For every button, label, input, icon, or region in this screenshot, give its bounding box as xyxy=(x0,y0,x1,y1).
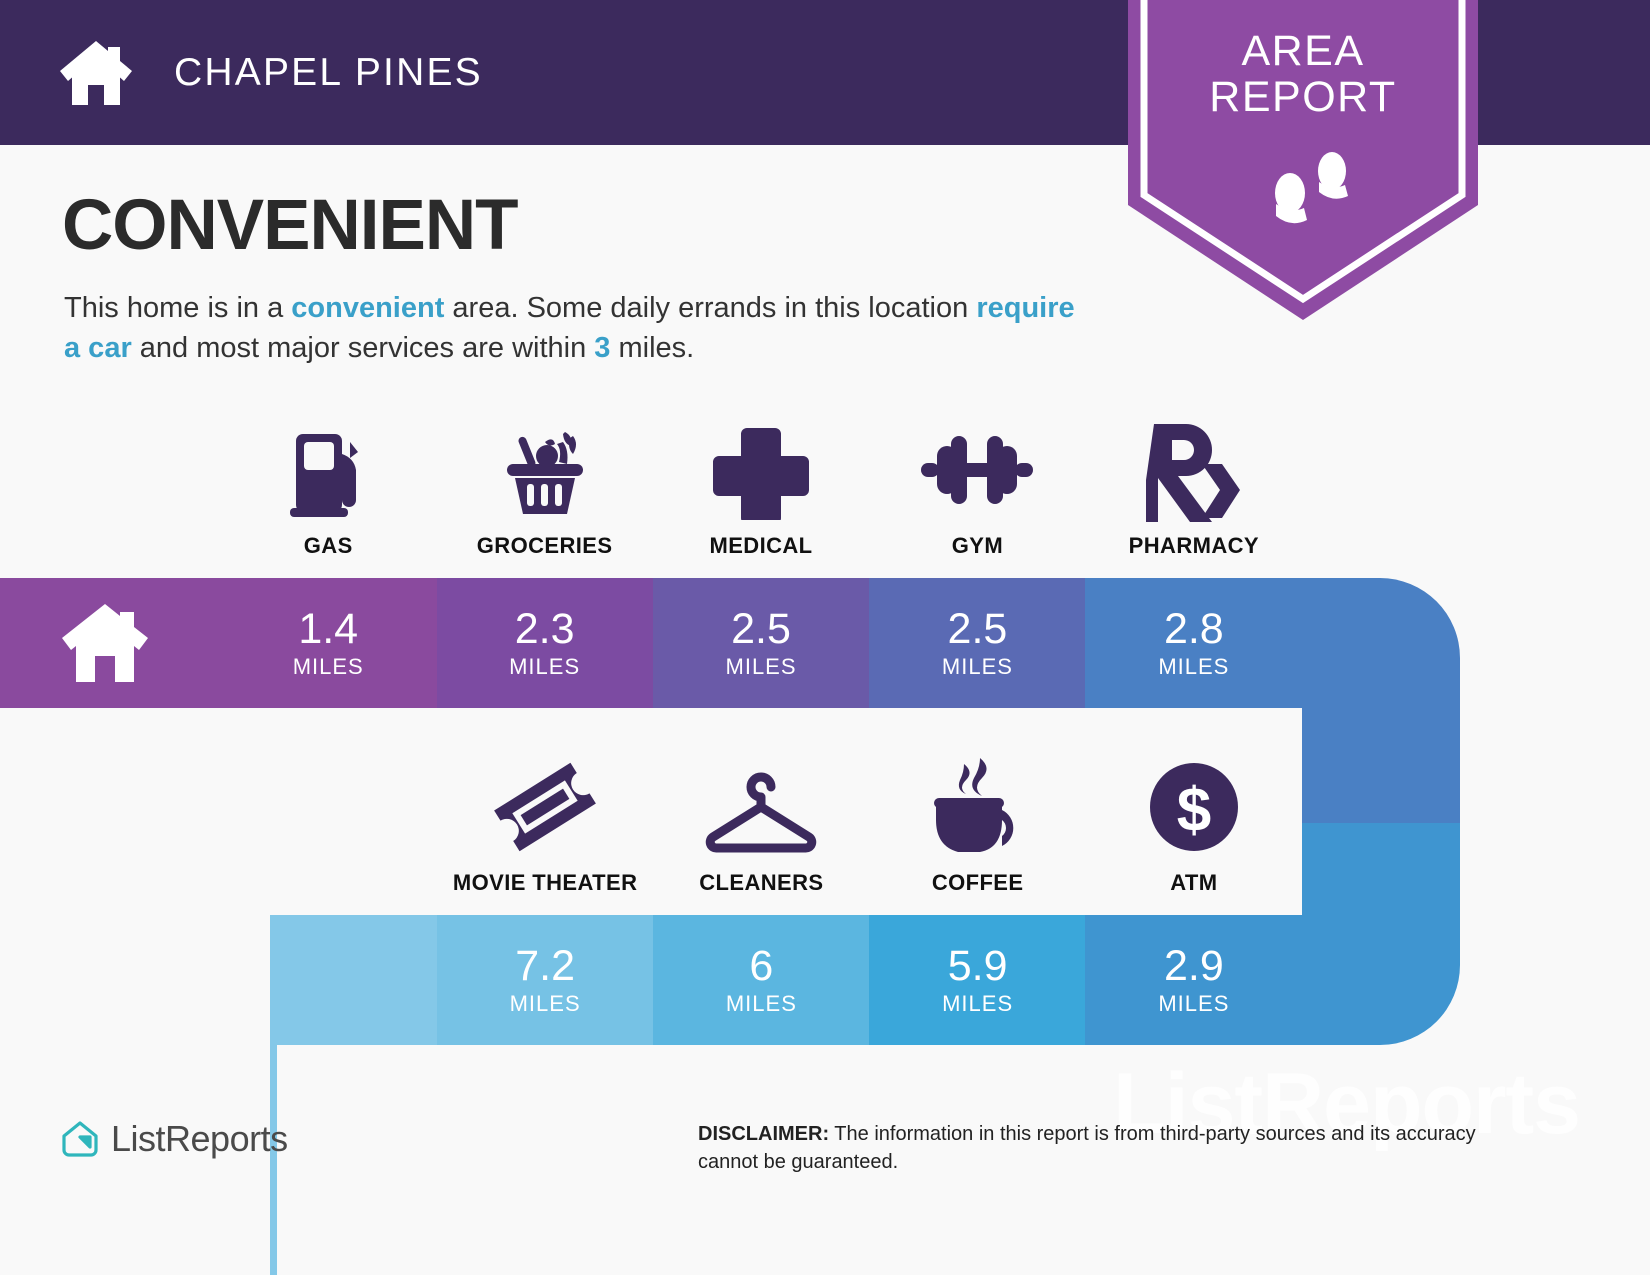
distance-movie-theater: 7.2 MILES xyxy=(437,915,653,1045)
service-item-atm: $ ATM xyxy=(1086,752,1302,896)
service-label: GAS xyxy=(304,533,353,559)
page-title: CHAPEL PINES xyxy=(174,51,483,95)
distance-coffee: 5.9 MILES xyxy=(870,915,1086,1045)
headline: CONVENIENT xyxy=(62,185,518,266)
service-label: MEDICAL xyxy=(710,533,813,559)
ribbon-turn-upper-right xyxy=(1302,578,1482,823)
distance-value: 1.4 xyxy=(298,606,358,652)
listreports-wordmark: ListReports xyxy=(111,1118,288,1160)
desc-part-2: area. Some daily errands in this locatio… xyxy=(444,292,976,324)
house-icon xyxy=(58,37,134,109)
rx-prescription-icon xyxy=(1146,415,1242,525)
badge-line-1: AREA xyxy=(1128,28,1478,74)
distance-value: 7.2 xyxy=(515,943,575,989)
distance-value: 2.3 xyxy=(515,606,575,652)
description-text: This home is in a convenient area. Some … xyxy=(64,288,1094,368)
service-item-groceries: GROCERIES xyxy=(436,415,652,559)
gas-pump-icon xyxy=(278,415,378,525)
dollar-circle-icon: $ xyxy=(1144,752,1244,862)
service-label: CLEANERS xyxy=(699,870,823,896)
distance-atm: 2.9 MILES xyxy=(1086,915,1302,1045)
service-label: GYM xyxy=(952,533,1003,559)
service-icon-row-1: GAS GROCERIES MEDICAL xyxy=(220,415,1302,559)
badge-line-2: REPORT xyxy=(1128,74,1478,120)
service-item-gym: GYM xyxy=(869,415,1085,559)
service-label: PHARMACY xyxy=(1129,533,1259,559)
distance-value: 2.5 xyxy=(731,606,791,652)
grocery-basket-icon xyxy=(493,415,597,525)
service-item-medical: MEDICAL xyxy=(653,415,869,559)
coffee-cup-icon xyxy=(926,752,1030,862)
area-report-badge: AREA REPORT xyxy=(1128,0,1478,320)
desc-highlight-1: convenient xyxy=(291,292,444,324)
distance-cleaners: 6 MILES xyxy=(653,915,869,1045)
service-label: COFFEE xyxy=(932,870,1024,896)
service-label: GROCERIES xyxy=(477,533,613,559)
distance-value-row-2: 7.2 MILES 6 MILES 5.9 MILES 2.9 MILES xyxy=(437,915,1302,1045)
distance-unit: MILES xyxy=(726,654,797,680)
service-item-pharmacy: PHARMACY xyxy=(1086,415,1302,559)
svg-text:$: $ xyxy=(1177,776,1211,845)
service-label: MOVIE THEATER xyxy=(453,870,637,896)
service-item-cleaners: CLEANERS xyxy=(653,752,869,896)
desc-highlight-3: 3 xyxy=(594,332,610,364)
service-item-gas: GAS xyxy=(220,415,436,559)
distance-unit: MILES xyxy=(942,991,1013,1017)
distance-unit: MILES xyxy=(942,654,1013,680)
clothes-hanger-icon xyxy=(699,752,823,862)
distance-medical: 2.5 MILES xyxy=(653,578,869,708)
badge-label: AREA REPORT xyxy=(1128,28,1478,120)
service-label: ATM xyxy=(1170,870,1217,896)
listreports-logo: ListReports xyxy=(60,1118,288,1160)
distance-value-row-1: 1.4 MILES 2.3 MILES 2.5 MILES 2.5 MILES … xyxy=(220,578,1302,708)
medical-cross-icon xyxy=(711,415,811,525)
distance-pharmacy: 2.8 MILES xyxy=(1086,578,1302,708)
disclaimer: DISCLAIMER: The information in this repo… xyxy=(698,1120,1508,1176)
ribbon-segment-row2-start xyxy=(270,915,437,1045)
distance-unit: MILES xyxy=(510,991,581,1017)
distance-gas: 1.4 MILES xyxy=(220,578,436,708)
disclaimer-label: DISCLAIMER: xyxy=(698,1123,829,1145)
distance-unit: MILES xyxy=(1158,991,1229,1017)
distance-value: 2.8 xyxy=(1164,606,1224,652)
desc-part-3: and most major services are within xyxy=(132,332,595,364)
distance-unit: MILES xyxy=(1158,654,1229,680)
ribbon-turn-lower-right xyxy=(1302,823,1482,1063)
distance-groceries: 2.3 MILES xyxy=(436,578,652,708)
service-item-coffee: COFFEE xyxy=(870,752,1086,896)
distance-value: 2.9 xyxy=(1164,943,1224,989)
distance-unit: MILES xyxy=(726,991,797,1017)
listreports-house-icon xyxy=(60,1119,100,1159)
service-icon-row-2: MOVIE THEATER CLEANERS COFFEE $ xyxy=(437,752,1302,896)
ribbon-tail-down xyxy=(270,1045,437,1275)
service-item-movie-theater: MOVIE THEATER xyxy=(437,752,653,896)
desc-part-1: This home is in a xyxy=(64,292,291,324)
desc-part-4: miles. xyxy=(610,332,694,364)
dumbbell-icon xyxy=(919,415,1035,525)
distance-unit: MILES xyxy=(293,654,364,680)
distance-value: 5.9 xyxy=(948,943,1008,989)
distance-value: 2.5 xyxy=(948,606,1008,652)
distance-gym: 2.5 MILES xyxy=(869,578,1085,708)
distance-value: 6 xyxy=(749,943,773,989)
movie-ticket-icon xyxy=(492,752,598,862)
distance-unit: MILES xyxy=(509,654,580,680)
home-marker-icon xyxy=(60,600,150,684)
